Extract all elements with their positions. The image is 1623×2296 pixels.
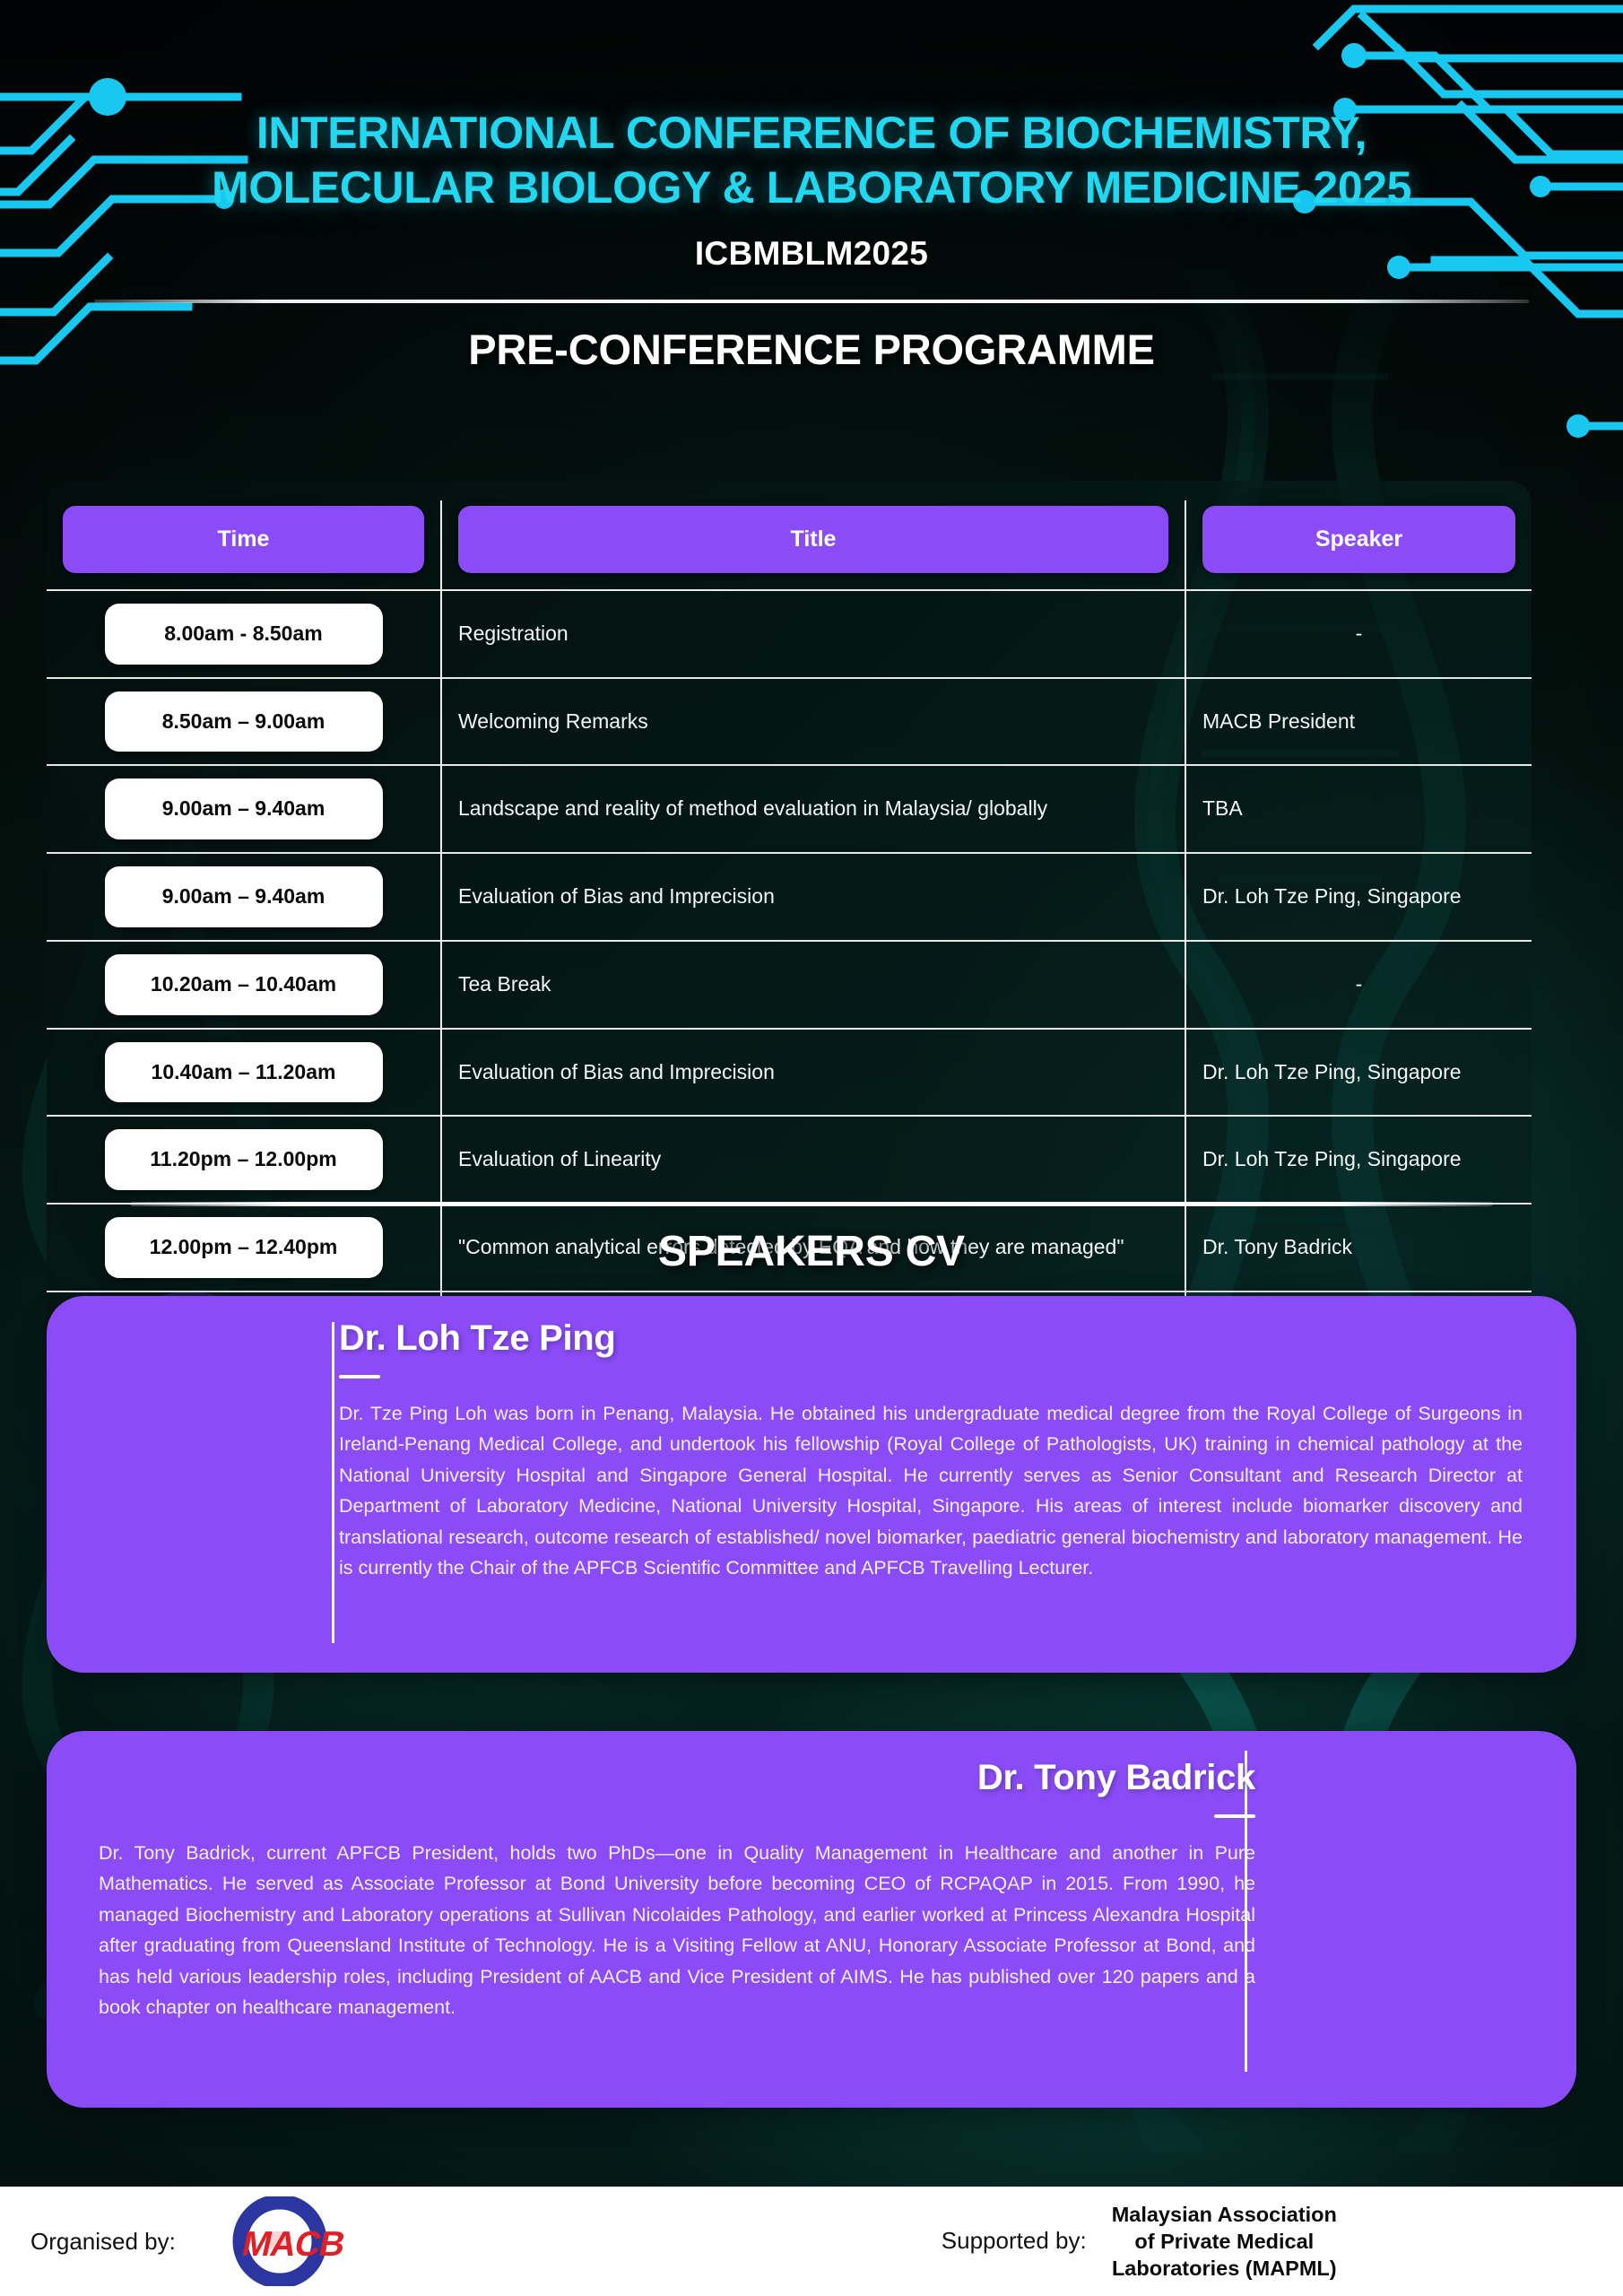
cell-time: 9.00am – 9.40am (47, 853, 441, 941)
speaker-bio: Dr. Tze Ping Loh was born in Penang, Mal… (339, 1398, 1523, 1583)
speaker-name: Dr. Tony Badrick (99, 1758, 1255, 1798)
cell-speaker: Dr. Loh Tze Ping, Singapore (1185, 853, 1532, 941)
footer-organiser-group: Organised by: MACB (0, 2196, 942, 2286)
cell-title: Evaluation of Bias and Imprecision (441, 853, 1185, 941)
cell-time: 10.40am – 11.20am (47, 1029, 441, 1117)
header-pill-title: Title (458, 506, 1168, 573)
time-pill: 11.20pm – 12.00pm (105, 1129, 383, 1190)
cell-speaker: - (1185, 590, 1532, 678)
cell-speaker: - (1185, 941, 1532, 1029)
time-pill: 10.20am – 10.40am (105, 954, 383, 1015)
table-row: 10.40am – 11.20am Evaluation of Bias and… (47, 1029, 1532, 1117)
cell-title: Evaluation of Linearity (441, 1116, 1185, 1204)
cv-name-divider-1 (332, 1322, 334, 1643)
cell-time: 11.20pm – 12.00pm (47, 1116, 441, 1204)
conference-title: INTERNATIONAL CONFERENCE OF BIOCHEMISTRY… (0, 106, 1623, 215)
mapml-line-1: Malaysian Association (1112, 2201, 1337, 2228)
table-row: 8.00am - 8.50am Registration - (47, 590, 1532, 678)
table-row: 9.00am – 9.40am Evaluation of Bias and I… (47, 853, 1532, 941)
speaker-name-underline (1214, 1814, 1255, 1818)
header-divider (94, 300, 1529, 303)
column-header-speaker: Speaker (1185, 500, 1532, 590)
programme-table-head: Time Title Speaker (47, 500, 1532, 590)
mapml-line-3: Laboratories (MAPML) (1112, 2255, 1337, 2282)
macb-logo-icon: MACB (197, 2196, 386, 2286)
conference-abbreviation: ICBMBLM2025 (0, 235, 1623, 273)
table-row: 10.20am – 10.40am Tea Break - (47, 941, 1532, 1029)
programme-section-title: PRE-CONFERENCE PROGRAMME (0, 325, 1623, 374)
cell-speaker: Dr. Loh Tze Ping, Singapore (1185, 1029, 1532, 1117)
cell-title: Registration (441, 590, 1185, 678)
speaker-info-tony-badrick: Dr. Tony Badrick Dr. Tony Badrick, curre… (99, 1758, 1255, 2022)
time-pill: 10.40am – 11.20am (105, 1042, 383, 1103)
footer-supporter-group: Supported by: Malaysian Association of P… (942, 2201, 1337, 2282)
time-pill: 9.00am – 9.40am (105, 778, 383, 839)
cell-speaker: Dr. Loh Tze Ping, Singapore (1185, 1116, 1532, 1204)
cell-title: Tea Break (441, 941, 1185, 1029)
speaker-name-underline (339, 1375, 380, 1378)
cv-section-title: SPEAKERS CV (0, 1227, 1623, 1276)
time-pill: 8.00am - 8.50am (105, 604, 383, 665)
time-pill: 8.50am – 9.00am (105, 691, 383, 752)
mapml-logo-text: Malaysian Association of Private Medical… (1112, 2201, 1337, 2282)
cell-time: 8.00am - 8.50am (47, 590, 441, 678)
cv-section-divider (130, 1202, 1493, 1206)
header-pill-time: Time (63, 506, 424, 573)
poster-header: INTERNATIONAL CONFERENCE OF BIOCHEMISTRY… (0, 0, 1623, 374)
cell-title: Welcoming Remarks (441, 678, 1185, 766)
cell-time: 10.20am – 10.40am (47, 941, 441, 1029)
time-pill: 9.00am – 9.40am (105, 866, 383, 927)
svg-text:MACB: MACB (239, 2224, 348, 2264)
organised-by-label: Organised by: (30, 2228, 176, 2256)
mapml-line-2: of Private Medical (1112, 2228, 1337, 2255)
table-row: 8.50am – 9.00am Welcoming Remarks MACB P… (47, 678, 1532, 766)
speaker-info-loh-tze-ping: Dr. Loh Tze Ping Dr. Tze Ping Loh was bo… (339, 1318, 1523, 1583)
poster-root: INTERNATIONAL CONFERENCE OF BIOCHEMISTRY… (0, 0, 1623, 2296)
table-row: 11.20pm – 12.00pm Evaluation of Linearit… (47, 1116, 1532, 1204)
column-header-time: Time (47, 500, 441, 590)
speaker-name: Dr. Loh Tze Ping (339, 1318, 1523, 1359)
header-pill-speaker: Speaker (1202, 506, 1515, 573)
table-header-row: Time Title Speaker (47, 500, 1532, 590)
cell-time: 8.50am – 9.00am (47, 678, 441, 766)
cell-speaker: MACB President (1185, 678, 1532, 766)
column-header-title: Title (441, 500, 1185, 590)
table-row: 9.00am – 9.40am Landscape and reality of… (47, 765, 1532, 853)
cell-title: Landscape and reality of method evaluati… (441, 765, 1185, 853)
poster-footer: Organised by: MACB Supported by: Malaysi… (0, 2187, 1623, 2296)
supported-by-label: Supported by: (942, 2227, 1087, 2255)
cell-time: 9.00am – 9.40am (47, 765, 441, 853)
speaker-bio: Dr. Tony Badrick, current APFCB Presiden… (99, 1838, 1255, 2022)
cell-speaker: TBA (1185, 765, 1532, 853)
cell-title: Evaluation of Bias and Imprecision (441, 1029, 1185, 1117)
